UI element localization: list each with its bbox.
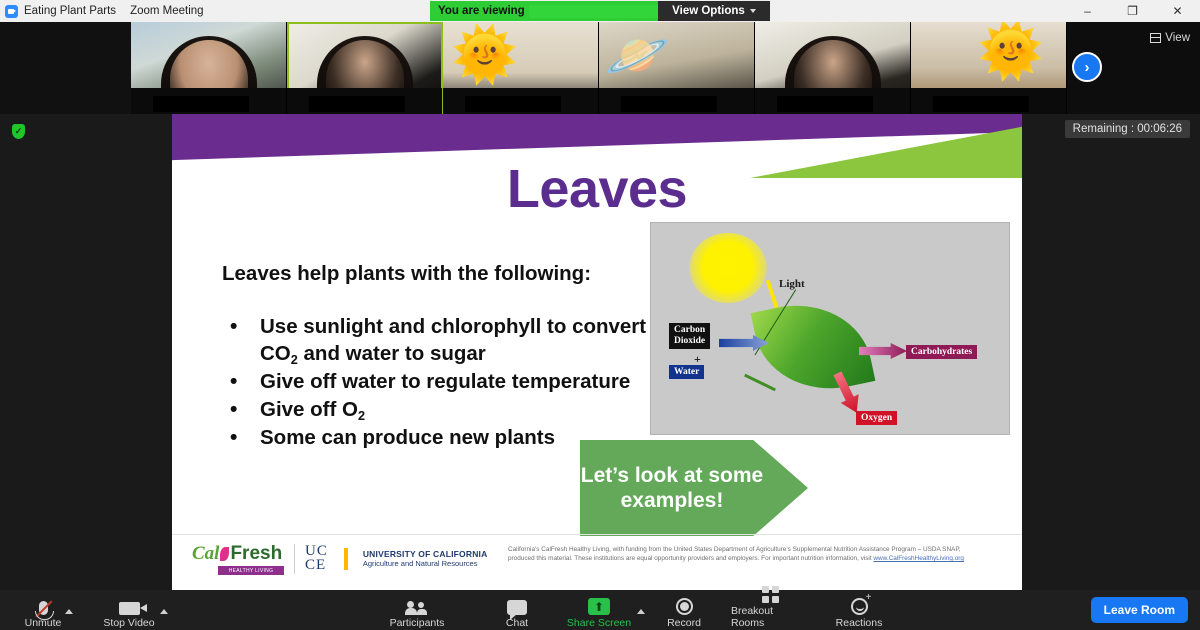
zoom-meeting-window: Eating Plant Parts Zoom Meeting You are … (0, 0, 1200, 630)
security-shield-icon (12, 124, 25, 139)
window-name: Zoom Meeting (130, 5, 204, 17)
record-label: Record (667, 617, 701, 629)
sun-icon (689, 233, 767, 303)
camera-icon (119, 594, 140, 615)
calfresh-wordmark: Cal Fresh (192, 543, 282, 565)
reactions-button[interactable]: Reactions (820, 594, 898, 629)
zoom-logo-icon (5, 5, 18, 18)
participant-name-redacted (153, 96, 249, 112)
logo-divider (294, 544, 295, 574)
list-item: Give off water to regulate temperature (218, 369, 648, 396)
participants-icon (405, 594, 429, 615)
participant-name-redacted (777, 96, 873, 112)
diagram-co2-label: CarbonDioxide (669, 323, 710, 349)
meeting-toolbar: Unmute Stop Video Participants Chat Shar… (0, 590, 1200, 630)
record-icon (676, 594, 693, 615)
share-screen-button[interactable]: Share Screen (560, 594, 638, 629)
diagram-light-label: Light (779, 278, 805, 290)
filmstrip-left-pad (0, 22, 131, 114)
document-name: Eating Plant Parts (24, 5, 116, 17)
breakout-rooms-label: Breakout Rooms (731, 605, 809, 629)
diagram-carbohydrates-label: Carbohydrates (906, 345, 977, 359)
leaf-mark-icon (220, 547, 229, 561)
reactions-icon (851, 594, 868, 615)
list-item: Use sunlight and chlorophyll to convert … (218, 314, 648, 368)
close-button[interactable]: ✕ (1155, 0, 1200, 22)
share-options-chevron-icon[interactable] (637, 609, 645, 614)
sun-avatar-icon: 🌞 (451, 28, 518, 82)
video-tile[interactable] (287, 22, 443, 114)
photosynthesis-diagram: Light CarbonDioxide + Water Carbohydrate… (650, 222, 1010, 435)
view-options-label: View Options (672, 5, 745, 17)
minimize-button[interactable]: – (1065, 0, 1110, 22)
mic-glyph (39, 601, 48, 615)
camera-glyph (119, 602, 140, 615)
calfresh-fresh-text: Fresh (230, 543, 282, 565)
stop-video-button[interactable]: Stop Video (90, 594, 168, 629)
sun-avatar-icon: 🌞 (977, 24, 1044, 78)
view-label: View (1165, 32, 1190, 44)
people-glyph (405, 601, 429, 615)
video-options-chevron-icon[interactable] (160, 609, 168, 614)
slide-lead-text: Leaves help plants with the following: (222, 262, 642, 286)
uc-gold-bar (344, 548, 348, 570)
leave-room-button[interactable]: Leave Room (1091, 597, 1188, 623)
chat-button[interactable]: Chat (478, 594, 556, 629)
breakout-rooms-icon (762, 582, 779, 603)
mic-muted-icon (39, 594, 48, 615)
calfresh-cal-text: Cal (192, 543, 219, 565)
you-are-viewing-banner: You are viewing (430, 1, 669, 21)
participant-name-redacted (309, 96, 405, 112)
list-item: Give off O2 (218, 397, 648, 424)
slide-bullet-list: Use sunlight and chlorophyll to convert … (218, 314, 648, 453)
diagram-water-label: Water (669, 365, 704, 379)
maximize-button[interactable]: ❐ (1110, 0, 1155, 22)
next-participants-button[interactable]: › (1072, 52, 1102, 82)
grid-icon (1150, 33, 1161, 43)
diagram-oxygen-label: Oxygen (856, 411, 897, 425)
video-tile[interactable] (755, 22, 911, 114)
view-layout-button[interactable]: View (1150, 29, 1190, 47)
participant-name-redacted (465, 96, 561, 112)
share-glyph (588, 598, 610, 615)
bubble-glyph (507, 600, 527, 615)
planet-avatar-icon: 🪐 (605, 30, 670, 82)
ucce-logo: UC CE (305, 545, 328, 573)
mute-slash (35, 601, 52, 618)
window-controls: – ❐ ✕ (1065, 0, 1200, 22)
smiley-glyph (851, 598, 868, 615)
shared-slide: Leaves Leaves help plants with the follo… (172, 114, 1022, 592)
leaf-stem (744, 374, 776, 392)
disclaimer-link[interactable]: www.CalFreshHealthyLiving.org (873, 555, 964, 562)
slide-title: Leaves (172, 158, 1022, 220)
viewing-label: You are viewing (438, 5, 525, 17)
video-tiles: 🌞 🪐 🌞 (131, 22, 1067, 114)
view-options-button[interactable]: View Options (658, 1, 770, 21)
grid-glyph (762, 586, 779, 603)
calfresh-logo: Cal Fresh HEALTHY LIVING (192, 543, 284, 575)
footer-disclaimer: California’s CalFresh Healthy Living, wi… (508, 545, 968, 564)
record-glyph (676, 598, 693, 615)
reactions-label: Reactions (836, 617, 883, 629)
participants-label: Participants (390, 617, 445, 629)
participant-filmstrip: 🌞 🪐 🌞 (0, 22, 1200, 114)
participant-name-redacted (933, 96, 1029, 112)
share-screen-label: Share Screen (567, 617, 631, 629)
stop-video-label: Stop Video (103, 617, 154, 629)
video-tile[interactable]: 🌞 (911, 22, 1067, 114)
chat-icon (507, 594, 527, 615)
calfresh-tagline: HEALTHY LIVING (218, 566, 284, 575)
participant-name-redacted (621, 96, 717, 112)
video-tile[interactable]: 🌞 (443, 22, 599, 114)
share-screen-icon (588, 594, 610, 615)
audio-options-chevron-icon[interactable] (65, 609, 73, 614)
footer-logos: Cal Fresh HEALTHY LIVING UC CE UNIVERSIT… (192, 543, 487, 575)
presenter-name-redacted (529, 5, 661, 18)
breakout-rooms-button[interactable]: Breakout Rooms (731, 582, 809, 629)
examples-callout: Let’s look at some examples! (580, 440, 808, 536)
uc-anr-text: UNIVERSITY OF CALIFORNIA Agriculture and… (363, 550, 488, 568)
video-tile[interactable] (131, 22, 287, 114)
uc-subtitle: Agriculture and Natural Resources (363, 560, 488, 568)
participants-button[interactable]: Participants (378, 594, 456, 629)
chevron-down-icon (750, 9, 756, 13)
record-button[interactable]: Record (645, 594, 723, 629)
remaining-time-badge: Remaining : 00:06:26 (1065, 120, 1190, 138)
slide-footer: Cal Fresh HEALTHY LIVING UC CE UNIVERSIT… (172, 534, 1022, 592)
video-tile[interactable]: 🪐 (599, 22, 755, 114)
ucce-ce: CE (305, 559, 328, 573)
